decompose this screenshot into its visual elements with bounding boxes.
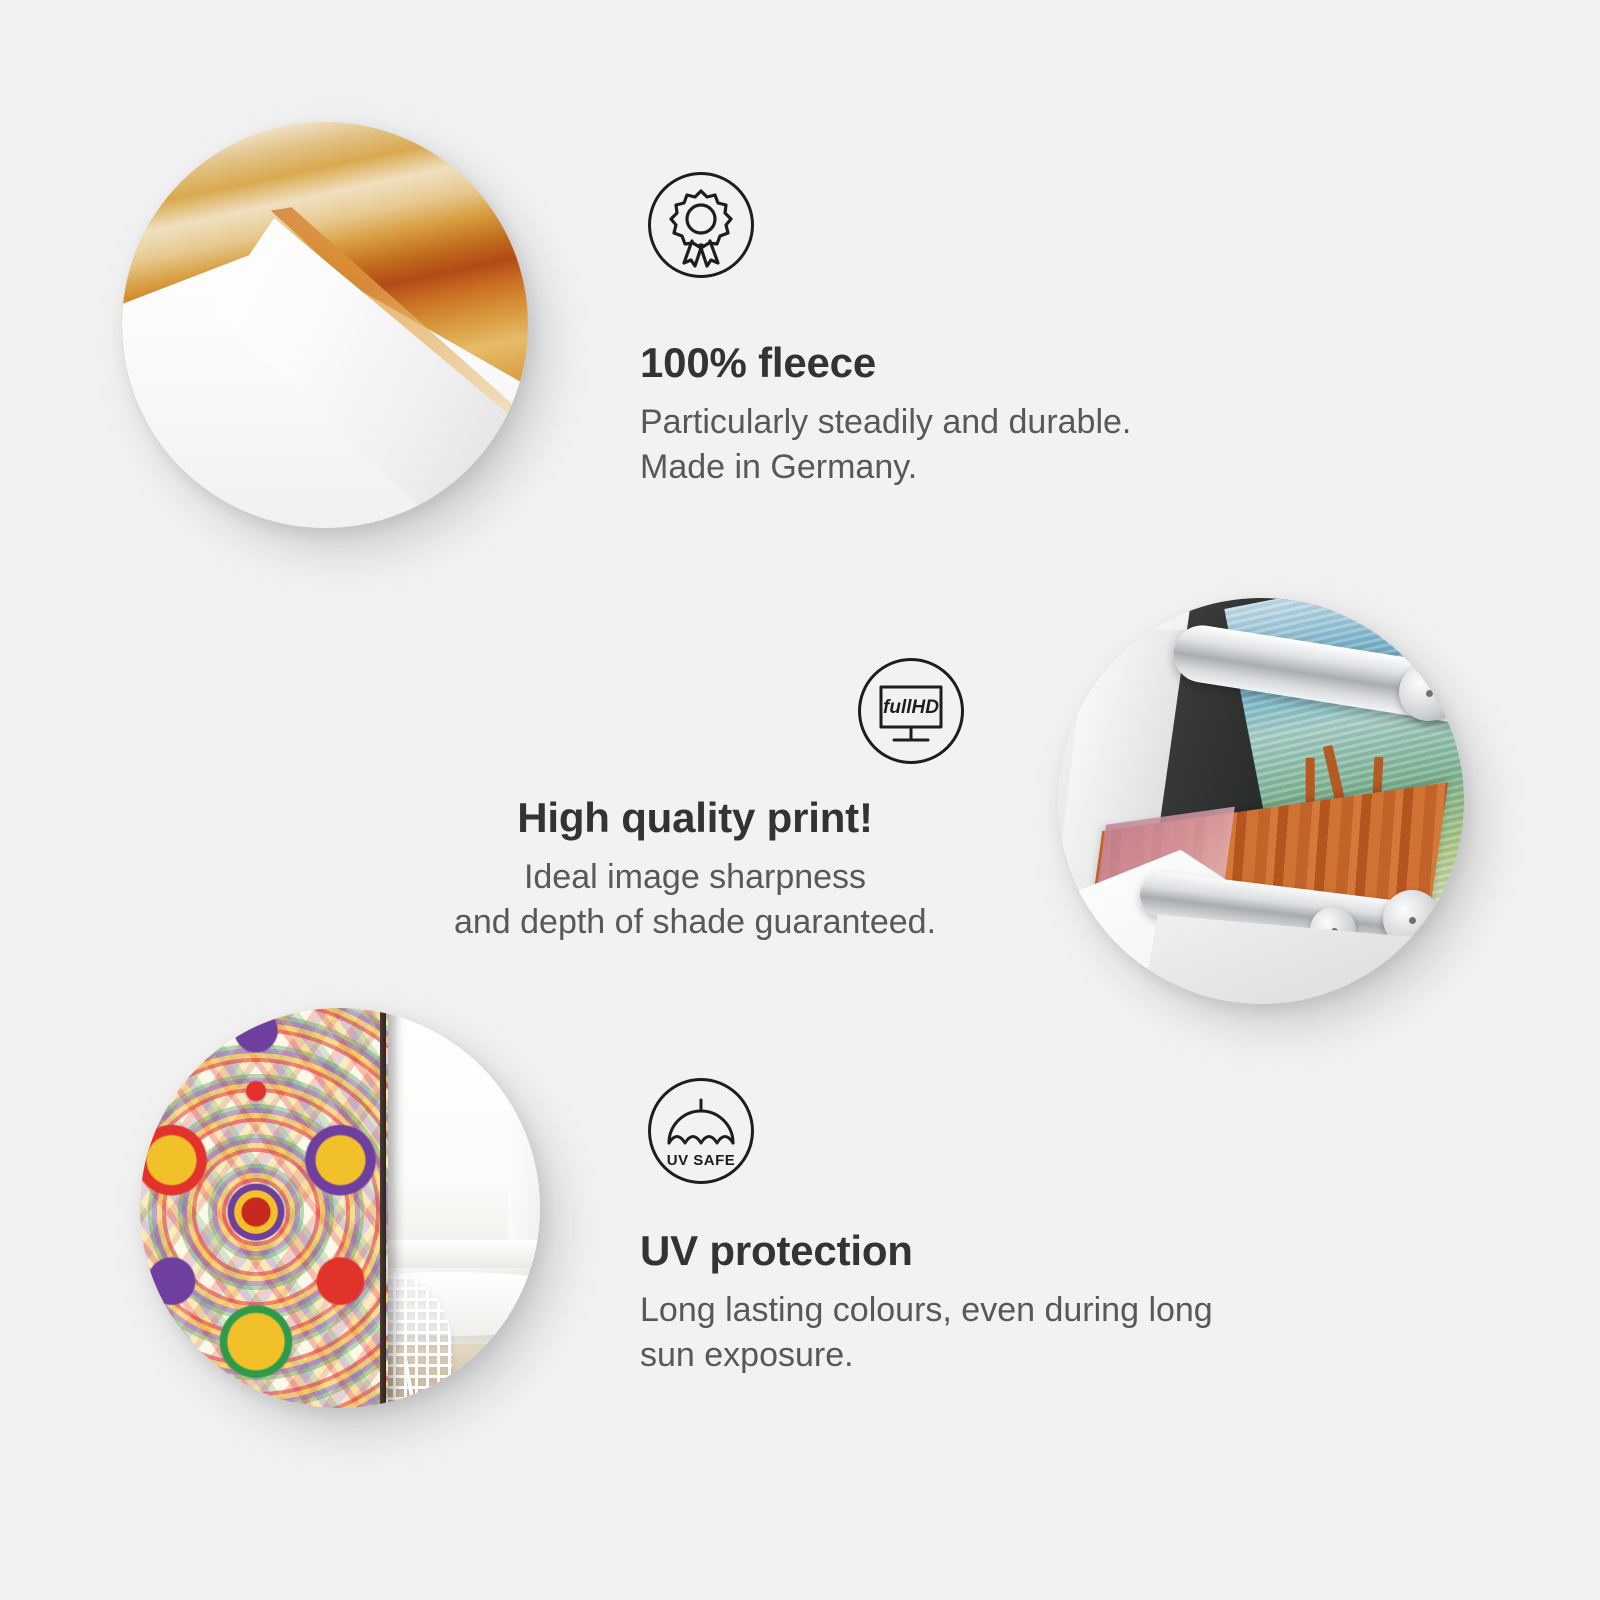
feature-text-uv: UV protection Long lasting colours, even… [640, 1228, 1340, 1379]
photo-inner-printer [1058, 598, 1464, 1004]
feature-text-fleece: 100% fleece Particularly steadily and du… [640, 340, 1280, 491]
feature-text-print: High quality print! Ideal image sharpnes… [380, 795, 1010, 946]
interior-window [388, 1024, 508, 1248]
fullhd-icon-label: fullHD [883, 697, 939, 718]
photo-inner-fleece [122, 122, 528, 528]
fullhd-monitor-glyph: fullHD [861, 661, 961, 761]
feature-description-uv: Long lasting colours, even during long s… [640, 1288, 1340, 1378]
uv-safe-icon-label: UV SAFE [667, 1152, 736, 1169]
award-ribbon-glyph [651, 175, 751, 275]
mandala-wallpaper-interior-photo [140, 1008, 540, 1408]
feature-title-uv: UV protection [640, 1228, 1340, 1274]
fullhd-monitor-icon: fullHD [858, 658, 964, 764]
photo-inner-mandala [140, 1008, 540, 1408]
infographic-stage: 100% fleece Particularly steadily and du… [0, 0, 1600, 1600]
peeled-fleece-wallpaper-photo [122, 122, 528, 528]
printer-roller-cap-top [1399, 663, 1457, 721]
wallpaper-panel-edge [380, 1008, 386, 1408]
mandala-wallpaper-panel [140, 1008, 388, 1408]
feature-title-print: High quality print! [380, 795, 1010, 841]
feature-description-fleece: Particularly steadily and durable. Made … [640, 400, 1280, 490]
uv-safe-umbrella-glyph: UV SAFE [651, 1081, 751, 1181]
feature-description-print: Ideal image sharpness and depth of shade… [380, 855, 1010, 945]
award-ribbon-icon [648, 172, 754, 278]
window-sill [364, 1240, 540, 1268]
large-format-printer-photo [1058, 598, 1464, 1004]
feature-title-fleece: 100% fleece [640, 340, 1280, 386]
uv-safe-umbrella-icon: UV SAFE [648, 1078, 754, 1184]
